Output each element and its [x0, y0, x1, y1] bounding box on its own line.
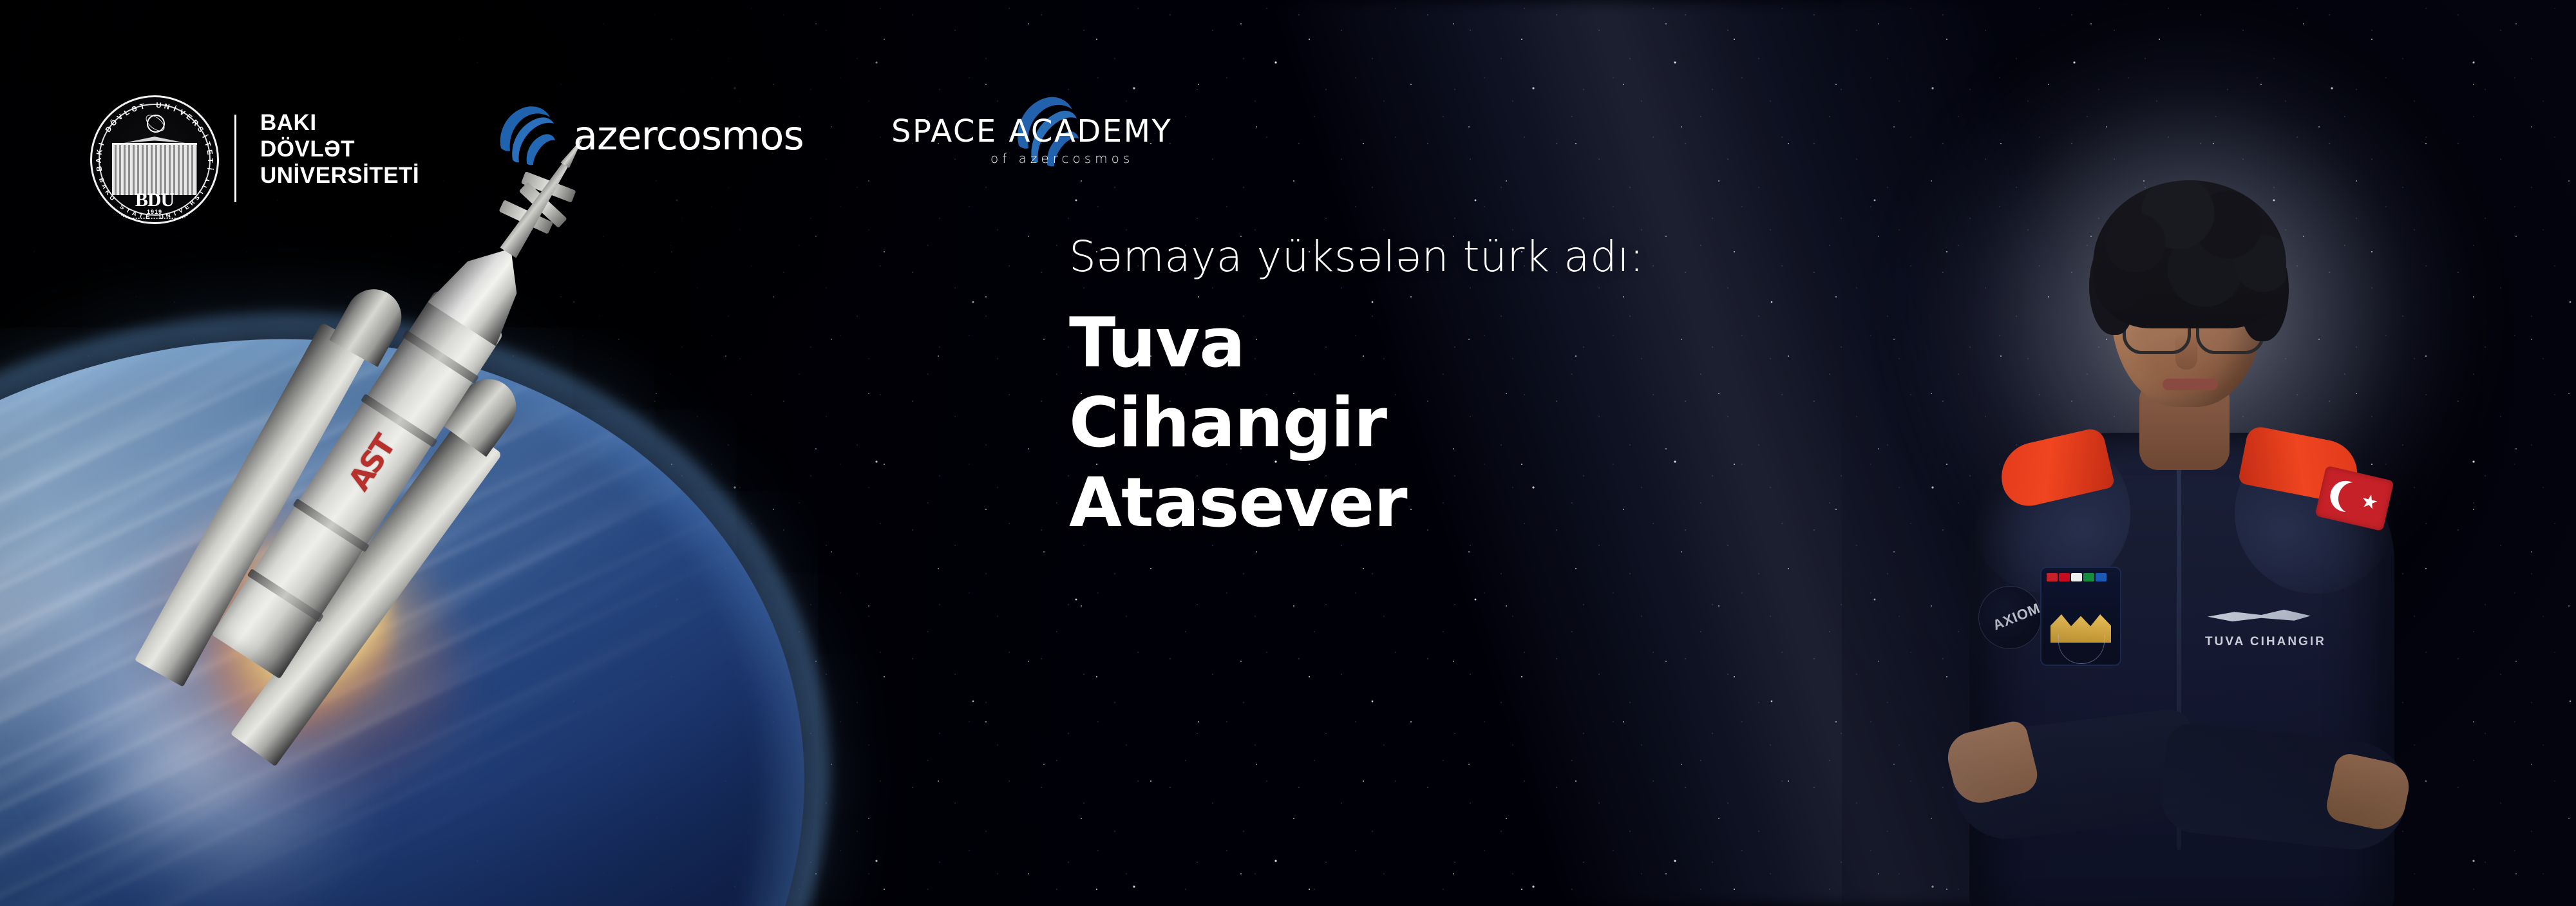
headline-block: Səmaya yüksələn türk adı: Tuva Cihangir …: [1069, 232, 1971, 543]
axiom-round-patch-label: AXIOM: [1991, 600, 2043, 634]
seal-founded-year: 1919: [90, 209, 219, 215]
headline-kicker: Səmaya yüksələn türk adı:: [1069, 232, 1971, 281]
headline-name-line-2: Cihangir: [1069, 383, 1971, 463]
curly-hair: [2093, 180, 2286, 328]
azercosmos-logo[interactable]: azercosmos: [491, 98, 838, 170]
astronaut-figure: AXIOM TUVA CIHANGIR AXIOM SPACE: [1938, 77, 2428, 906]
bdu-seal-icon[interactable]: BAKI DÖVLƏT UNİVERSİTETİBAKU STATE UNIVE…: [90, 95, 219, 224]
logo-divider: [234, 115, 236, 202]
patch-flag-se: [2096, 573, 2107, 581]
bdu-wordmark-line-1: BAKI: [260, 109, 419, 136]
headline-name-line-1: Tuva: [1069, 303, 1971, 383]
space-academy-logo[interactable]: SPACE ACADEMY of azercosmos: [891, 98, 1200, 174]
patch-globe-grid: [2058, 635, 2105, 664]
patch-flag-es: [2059, 573, 2070, 581]
patch-flag-us: [2071, 573, 2082, 581]
seal-university-building-icon: [112, 143, 197, 195]
space-academy-subtitle: of azercosmos: [990, 151, 1133, 166]
banner-root: AST AXIOM: [0, 0, 2576, 906]
headline-names: Tuva Cihangir Atasever: [1069, 303, 1971, 543]
azercosmos-wordmark: azercosmos: [573, 112, 804, 159]
bdu-wordmark-line-3: UNİVERSİTETİ: [260, 162, 419, 189]
mouth: [2163, 379, 2218, 390]
logo-row: BAKI DÖVLƏT UNİVERSİTETİBAKU STATE UNIVE…: [0, 0, 2576, 193]
headline-name-line-3: Atasever: [1069, 463, 1971, 543]
suit-name-tape: TUVA CIHANGIR: [2205, 635, 2326, 649]
bdu-wordmark[interactable]: BAKI DÖVLƏT UNİVERSİTETİ: [260, 109, 419, 189]
bdu-wordmark-line-2: DÖVLƏT: [260, 136, 419, 162]
azercosmos-swirl-icon: [491, 100, 559, 169]
ax-3-mission-patch-icon: [2040, 567, 2121, 666]
axiom-round-patch-icon: AXIOM: [1978, 586, 2041, 649]
patch-flag-it: [2083, 573, 2094, 581]
patch-flag-tr: [2047, 573, 2058, 581]
space-academy-wordmark: SPACE ACADEMY: [891, 113, 1200, 149]
